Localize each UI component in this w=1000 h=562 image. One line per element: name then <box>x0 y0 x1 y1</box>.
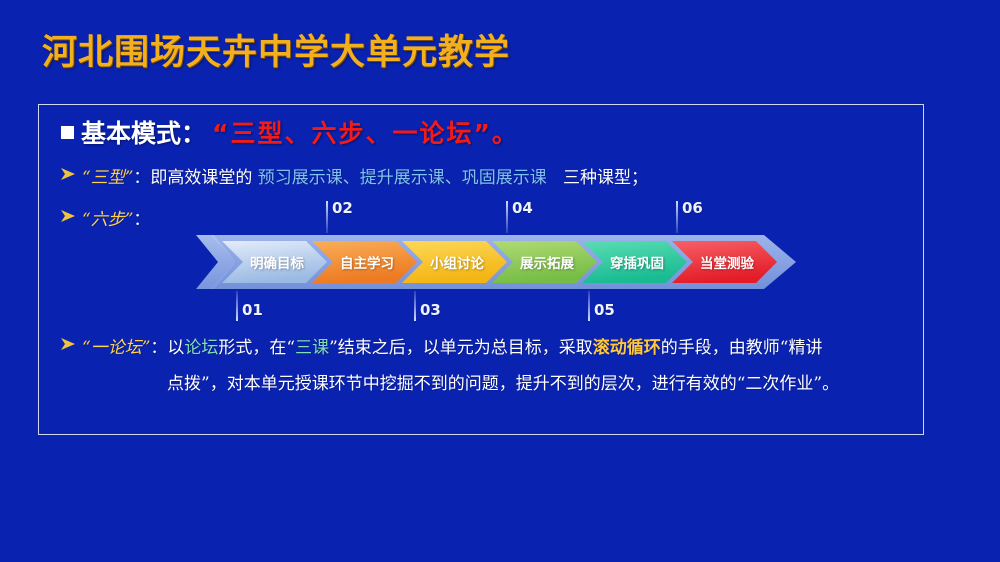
term-liubu: “六步” <box>82 210 133 230</box>
tick-line-03 <box>414 291 416 321</box>
luntan-sep: ：以 <box>150 338 184 358</box>
arrow-bullet-icon <box>61 209 76 223</box>
luntan-text-1: 形式，在“ <box>218 338 295 358</box>
tick-number-05: 05 <box>594 301 615 319</box>
arrow-bullet-icon <box>61 337 76 351</box>
bullet-row-liubu: “六步”： <box>61 205 150 230</box>
step-label-02: 自主学习 <box>340 252 394 272</box>
step-label-05: 穿插巩固 <box>610 252 664 272</box>
tick-line-06 <box>676 201 678 233</box>
bullet-row-luntan-line2: 点拨”，对本单元授课环节中挖掘不到的问题，提升不到的层次，进行有效的“二次作业”… <box>167 369 839 394</box>
luntan-green-1: 论坛 <box>184 338 218 358</box>
tick-line-04 <box>506 201 508 233</box>
bullet-row-luntan-line1: “一论坛”：以论坛形式，在“三课”结束之后，以单元为总目标，采取滚动循环的手段，… <box>61 333 823 358</box>
sanxing-courses: 预习展示课、提升展示课、巩固展示课 <box>258 168 547 188</box>
sanxing-tail: 三种课型； <box>563 168 648 188</box>
term-sanxing: “三型” <box>82 168 133 188</box>
tick-line-02 <box>326 201 328 233</box>
step-label-06: 当堂测验 <box>700 252 754 272</box>
headline-emphasis: “三型、六步、一论坛”。 <box>212 114 519 150</box>
tick-number-02: 02 <box>332 199 353 217</box>
process-chevron-diagram: 明确目标 自主学习 小组讨论 展示拓展 穿插巩固 当堂测验 02 04 06 0… <box>196 197 796 327</box>
tick-line-01 <box>236 291 238 321</box>
tick-number-01: 01 <box>242 301 263 319</box>
luntan-green-2: 三课 <box>295 338 329 358</box>
liubu-sep: ： <box>133 210 150 230</box>
luntan-gold-1: 滚动循环 <box>593 338 661 358</box>
arrow-bullet-icon <box>61 167 76 181</box>
tick-number-04: 04 <box>512 199 533 217</box>
square-bullet-icon <box>61 126 74 139</box>
page-title: 河北围场天卉中学大单元教学 <box>42 24 510 75</box>
luntan-line2-text: 点拨”，对本单元授课环节中挖掘不到的问题，提升不到的层次，进行有效的“二次作业”… <box>167 369 839 394</box>
luntan-text-2: ”结束之后，以单元为总目标，采取 <box>329 338 593 358</box>
term-luntan: “一论坛” <box>82 338 150 358</box>
headline-label: 基本模式： <box>81 114 206 150</box>
step-label-04: 展示拓展 <box>520 252 574 272</box>
step-label-03: 小组讨论 <box>430 252 484 272</box>
headline: 基本模式： “三型、六步、一论坛”。 <box>61 114 519 150</box>
tick-line-05 <box>588 291 590 321</box>
sanxing-sep: ：即高效课堂的 <box>133 168 252 188</box>
bullet-row-sanxing: “三型”：即高效课堂的 预习展示课、提升展示课、巩固展示课 三种课型； <box>61 163 648 188</box>
content-frame: 基本模式： “三型、六步、一论坛”。 “三型”：即高效课堂的 预习展示课、提升展… <box>38 104 924 435</box>
slide-canvas: 河北围场天卉中学大单元教学 基本模式： “三型、六步、一论坛”。 “三型”：即高… <box>0 0 1000 562</box>
luntan-text-3: 的手段，由教师“精讲 <box>661 338 823 358</box>
tick-number-03: 03 <box>420 301 441 319</box>
tick-number-06: 06 <box>682 199 703 217</box>
step-label-01: 明确目标 <box>250 252 304 272</box>
